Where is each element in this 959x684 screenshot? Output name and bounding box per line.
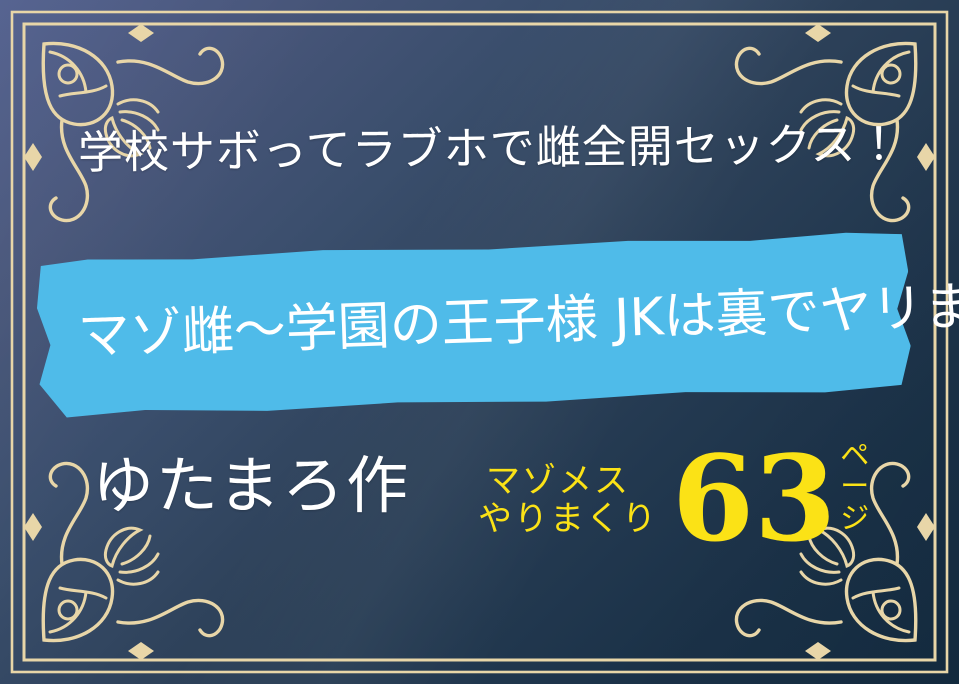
page-count-number: 63	[658, 448, 840, 549]
page-count-badge: マゾメス やりまくり 63 ペ ー ジ	[478, 440, 869, 550]
page-unit-char-2: ー	[840, 471, 869, 502]
page-unit-char-3: ジ	[840, 503, 869, 534]
page-unit-char-1: ペ	[840, 440, 869, 471]
page-badge-tagline: マゾメス やりまくり	[478, 462, 658, 550]
tagline-line-2: やりまくり	[478, 500, 658, 538]
page-count-unit: ペ ー ジ	[840, 440, 869, 550]
author-credit: ゆたまろ作	[92, 455, 410, 517]
subtitle-ribbon: マゾ雌〜学園の王子様 JKは裏でヤリまくり〜	[35, 229, 912, 420]
tagline-line-1: マゾメス	[478, 462, 658, 500]
page-title: 学校サボってラブホで雌全開セックス！	[78, 122, 878, 175]
cover-poster: 学校サボってラブホで雌全開セックス！ マゾ雌〜学園の王子様 JKは裏でヤリまくり…	[0, 0, 959, 684]
